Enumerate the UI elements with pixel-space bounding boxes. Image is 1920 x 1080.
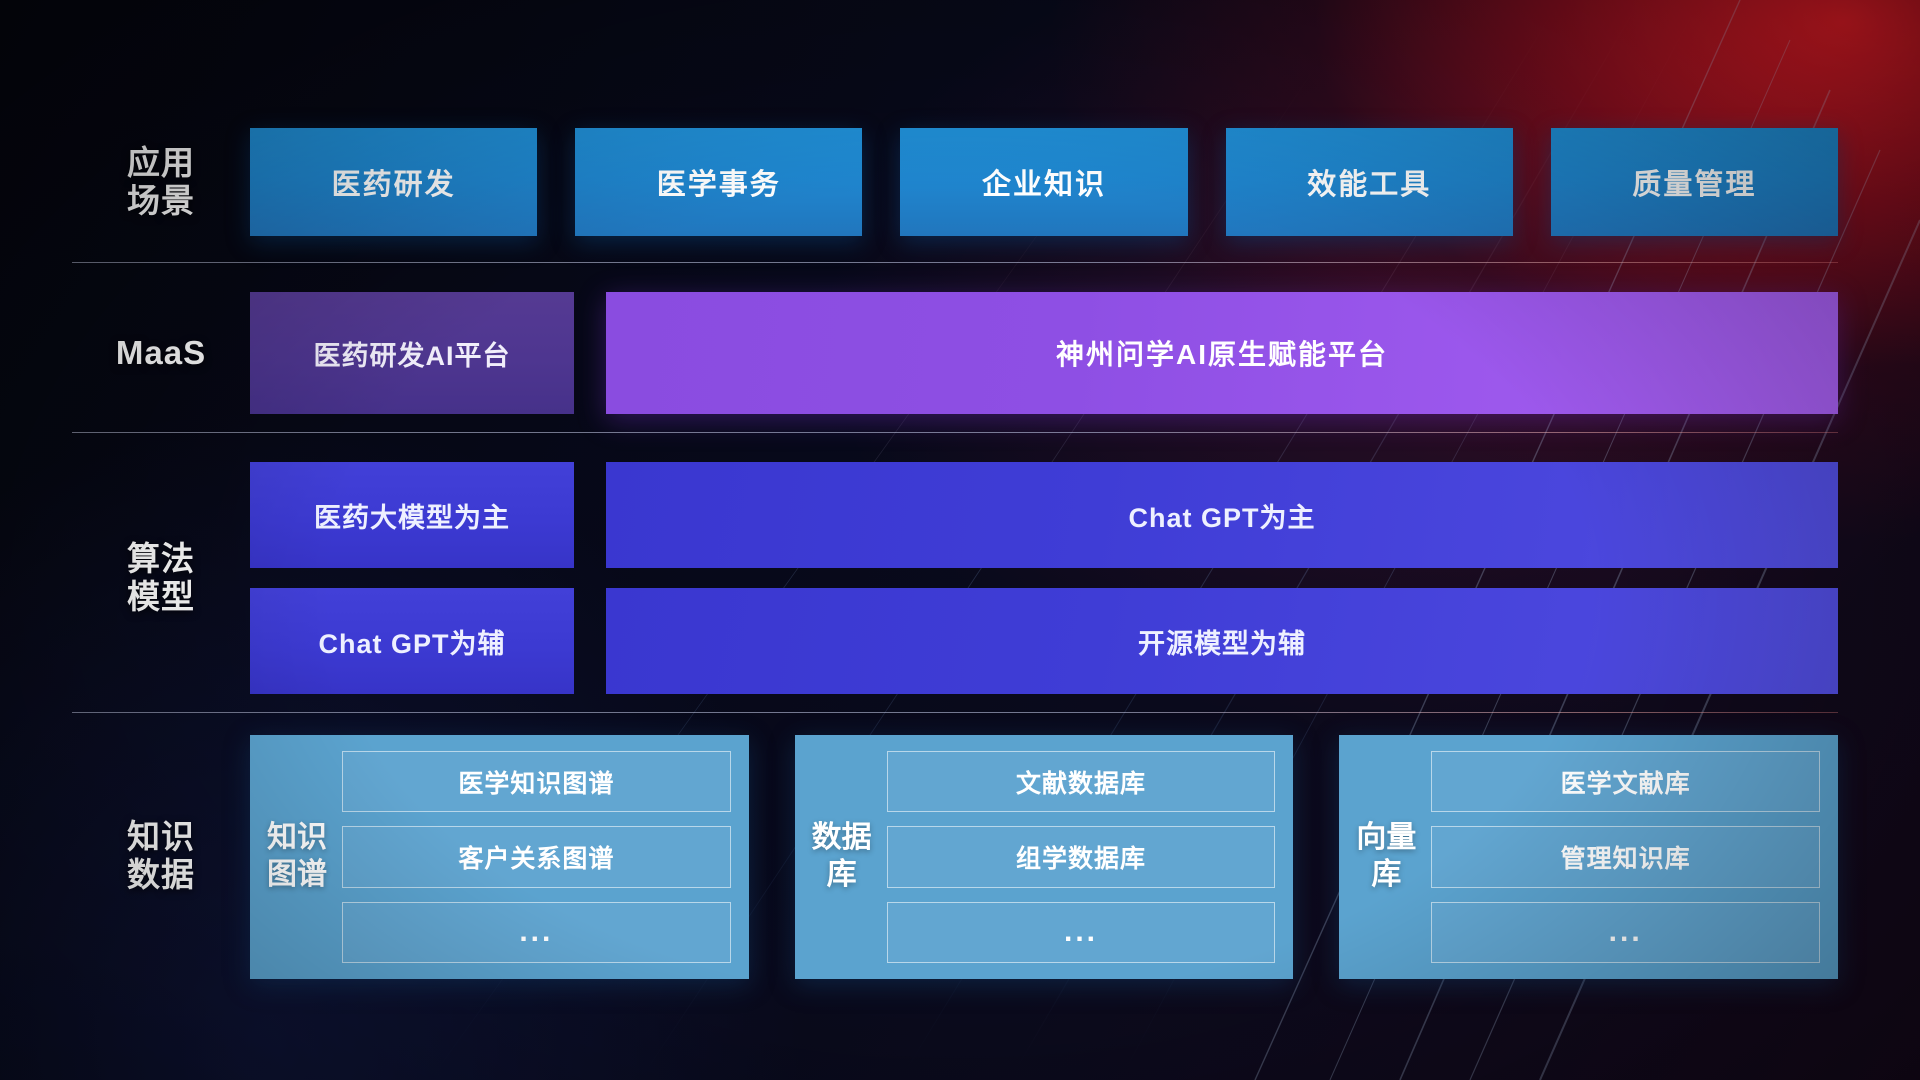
row-application-scenarios: 应用 场景 医药研发 医学事务 企业知识 效能工具 质量管理 <box>72 120 1838 244</box>
knowledge-item-list-knowledge-graph: 医学知识图谱 客户关系图谱 ... <box>342 751 731 963</box>
knowledge-panel-vector-store[interactable]: 向量库 医学文献库 管理知识库 ... <box>1339 735 1838 979</box>
algorithm-block-list: 医药大模型为主 Chat GPT为主 Chat GPT为辅 开源模型为辅 <box>250 462 1838 694</box>
knowledge-item-literature-database[interactable]: 文献数据库 <box>887 751 1276 812</box>
knowledge-panel-knowledge-graph[interactable]: 知识图谱 医学知识图谱 客户关系图谱 ... <box>250 735 749 979</box>
knowledge-panel-database[interactable]: 数据库 文献数据库 组学数据库 ... <box>795 735 1294 979</box>
divider-apps-maas <box>72 262 1838 263</box>
knowledge-item-medical-knowledge-graph[interactable]: 医学知识图谱 <box>342 751 731 812</box>
knowledge-item-list-database: 文献数据库 组学数据库 ... <box>887 751 1276 963</box>
app-card-quality-management[interactable]: 质量管理 <box>1551 128 1838 236</box>
row-algorithm-models: 算法 模型 医药大模型为主 Chat GPT为主 Chat GPT为辅 开源模型… <box>72 462 1838 694</box>
knowledge-item-omics-database[interactable]: 组学数据库 <box>887 826 1276 887</box>
algo-card-chatgpt-secondary[interactable]: Chat GPT为辅 <box>250 588 574 694</box>
app-card-medical-affairs[interactable]: 医学事务 <box>575 128 862 236</box>
knowledge-panel-title-database: 数据库 <box>811 751 873 963</box>
algo-card-chatgpt-primary[interactable]: Chat GPT为主 <box>606 462 1838 568</box>
row-label-maas: MaaS <box>72 334 250 372</box>
row-knowledge-data: 知识 数据 知识图谱 医学知识图谱 客户关系图谱 ... 数据库 <box>72 735 1838 983</box>
diagram-rows: 应用 场景 医药研发 医学事务 企业知识 效能工具 质量管理 MaaS 医药研发… <box>0 0 1920 1080</box>
maas-card-shenzhou-wenxue-platform[interactable]: 神州问学AI原生赋能平台 <box>606 292 1838 414</box>
row-label-algorithm-models: 算法 模型 <box>72 540 250 617</box>
app-card-efficiency-tools[interactable]: 效能工具 <box>1226 128 1513 236</box>
knowledge-panel-title-knowledge-graph: 知识图谱 <box>266 751 328 963</box>
row-maas: MaaS 医药研发AI平台 神州问学AI原生赋能平台 <box>72 290 1838 416</box>
app-card-drug-rd[interactable]: 医药研发 <box>250 128 537 236</box>
row-label-knowledge-data: 知识 数据 <box>72 818 250 901</box>
algorithm-row-primary: 医药大模型为主 Chat GPT为主 <box>250 462 1838 568</box>
application-card-list: 医药研发 医学事务 企业知识 效能工具 质量管理 <box>250 128 1838 236</box>
app-card-enterprise-knowledge[interactable]: 企业知识 <box>900 128 1187 236</box>
row-label-application-scenarios: 应用 场景 <box>72 144 250 221</box>
knowledge-item-more-database[interactable]: ... <box>887 902 1276 963</box>
knowledge-item-customer-relation-graph[interactable]: 客户关系图谱 <box>342 826 731 887</box>
knowledge-item-management-knowledge-store[interactable]: 管理知识库 <box>1431 826 1820 887</box>
knowledge-item-more-knowledge-graph[interactable]: ... <box>342 902 731 963</box>
knowledge-item-medical-literature-store[interactable]: 医学文献库 <box>1431 751 1820 812</box>
slide-canvas: 应用 场景 医药研发 医学事务 企业知识 效能工具 质量管理 MaaS 医药研发… <box>0 0 1920 1080</box>
knowledge-item-more-vector-store[interactable]: ... <box>1431 902 1820 963</box>
maas-block-list: 医药研发AI平台 神州问学AI原生赋能平台 <box>250 292 1838 414</box>
divider-maas-algo <box>72 432 1838 433</box>
algorithm-row-secondary: Chat GPT为辅 开源模型为辅 <box>250 588 1838 694</box>
divider-algo-knowledge <box>72 712 1838 713</box>
maas-card-drug-rd-ai-platform[interactable]: 医药研发AI平台 <box>250 292 574 414</box>
knowledge-item-list-vector-store: 医学文献库 管理知识库 ... <box>1431 751 1820 963</box>
algo-card-open-source-secondary[interactable]: 开源模型为辅 <box>606 588 1838 694</box>
algo-card-pharma-llm-primary[interactable]: 医药大模型为主 <box>250 462 574 568</box>
knowledge-panel-title-vector-store: 向量库 <box>1355 751 1417 963</box>
knowledge-panel-list: 知识图谱 医学知识图谱 客户关系图谱 ... 数据库 文献数据库 组学数据库 .… <box>250 735 1838 979</box>
